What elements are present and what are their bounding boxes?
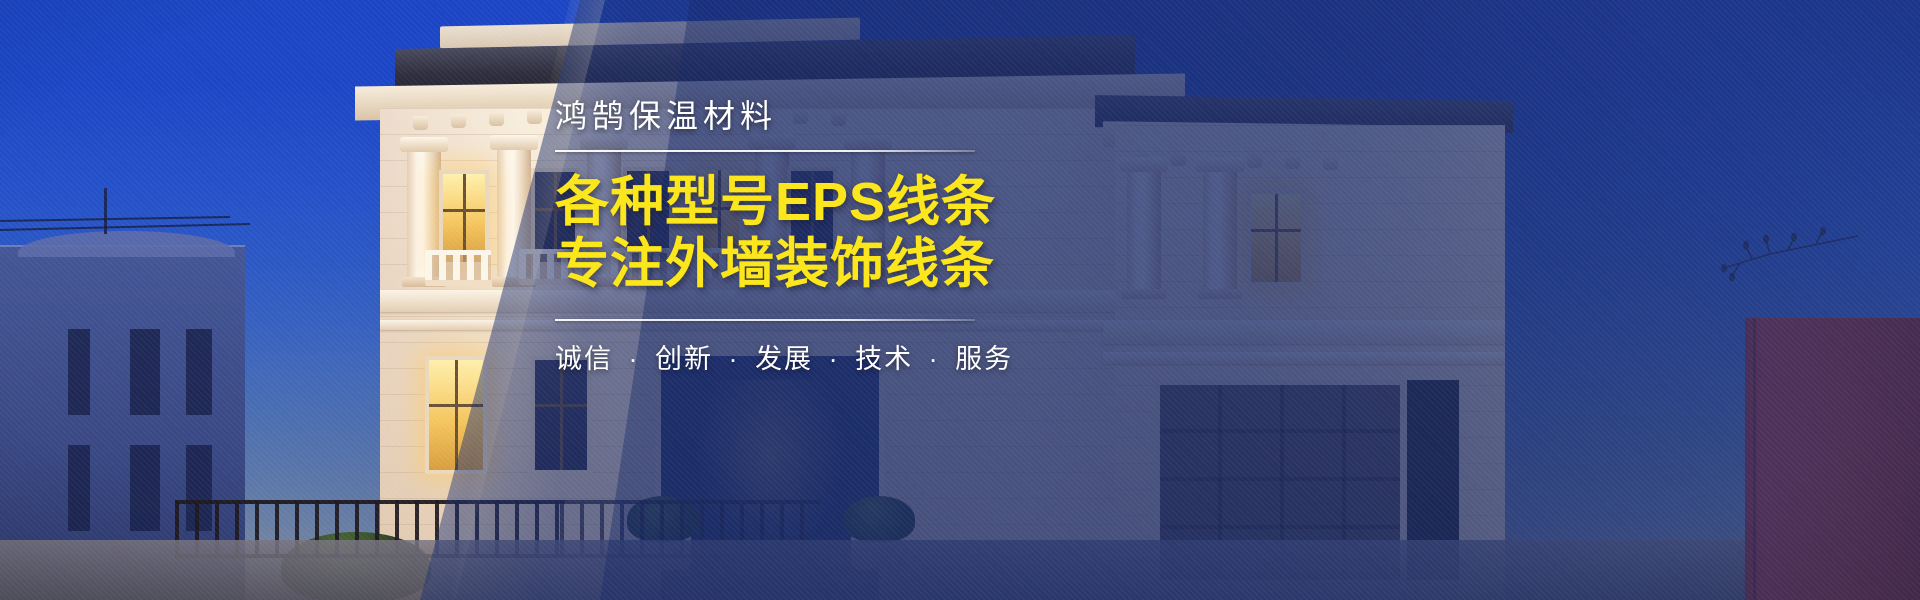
tagline-item: 服务 [955, 344, 1013, 374]
headline: 各种型号EPS线条 专注外墙装饰线条 [555, 172, 1095, 295]
headline-line-2: 专注外墙装饰线条 [555, 234, 1095, 296]
hero-banner: 鸿鹄保温材料 各种型号EPS线条 专注外墙装饰线条 诚信 · 创新 · 发展 ·… [0, 0, 1920, 600]
tagline: 诚信 · 创新 · 发展 · 技术 · 服务 [555, 337, 1095, 376]
tagline-separator: · [923, 344, 946, 374]
tagline-item: 诚信 [555, 344, 613, 374]
divider-bottom [555, 319, 975, 321]
tagline-separator: · [623, 344, 646, 374]
headline-line-1: 各种型号EPS线条 [555, 172, 1095, 234]
tagline-separator: · [723, 344, 746, 374]
divider-top [555, 150, 975, 152]
banner-copy: 鸿鹄保温材料 各种型号EPS线条 专注外墙装饰线条 诚信 · 创新 · 发展 ·… [555, 96, 1095, 376]
tagline-item: 创新 [655, 344, 713, 374]
tagline-item: 技术 [855, 344, 913, 374]
tagline-item: 发展 [755, 344, 813, 374]
brand-name: 鸿鹄保温材料 [555, 96, 1095, 136]
tagline-separator: · [823, 344, 846, 374]
